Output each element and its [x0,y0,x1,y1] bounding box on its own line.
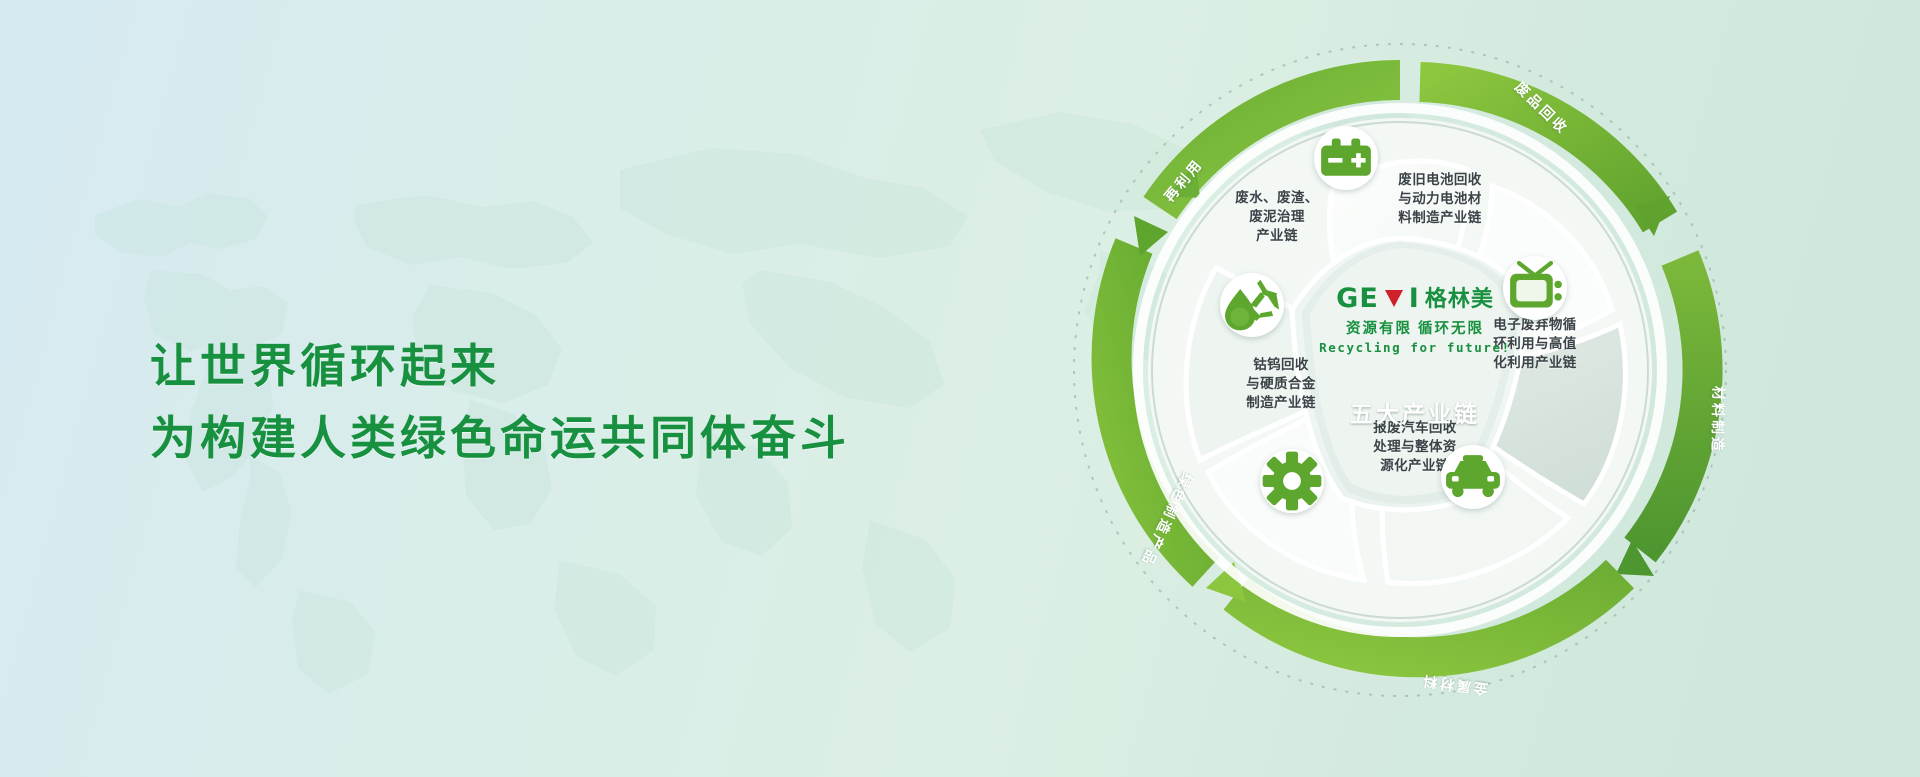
headline-line-1: 让世界循环起来 [150,330,850,402]
headline-block: 让世界循环起来 为构建人类绿色命运共同体奋斗 [150,330,850,474]
red-triangle-icon [1385,290,1403,307]
recycle-drop-icon [1220,273,1284,337]
headline-line-2: 为构建人类绿色命运共同体奋斗 [150,402,850,474]
logo-latin-tail: I [1409,285,1420,312]
five-industry-chain-diagram: 废水、废渣、 废泥治理 产业链 废旧电池回收 与动力电池材 料制造产业链 电子废… [1020,10,1900,770]
ring-label-material: 材料制造 [1707,386,1728,454]
hero-banner: 让世界循环起来 为构建人类绿色命运共同体奋斗 [0,0,1920,777]
car-icon [1441,445,1505,509]
tv-icon [1503,256,1567,320]
